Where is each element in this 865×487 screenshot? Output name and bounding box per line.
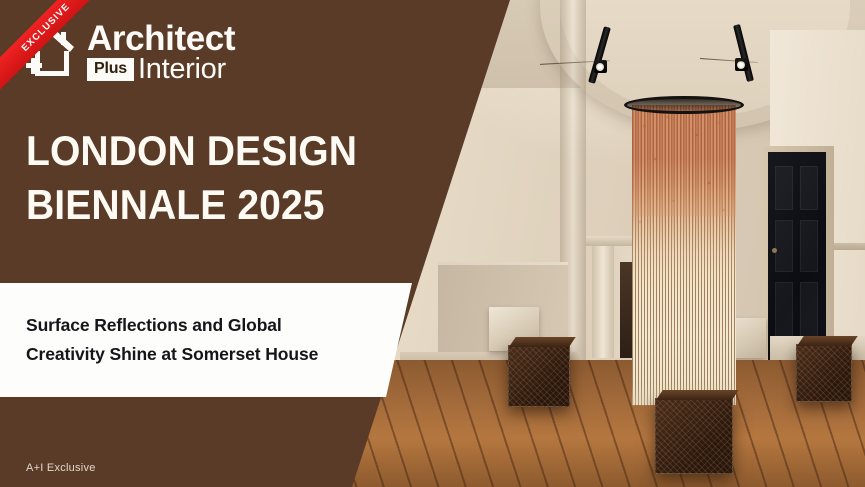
track-light-lens <box>596 63 604 71</box>
dark-panelled-door <box>768 152 826 360</box>
carved-wooden-cube <box>655 398 733 474</box>
cube-top-face <box>656 390 739 400</box>
door-panel <box>775 282 793 344</box>
fireplace-column-left <box>592 246 614 358</box>
subtitle-panel: Surface Reflections and Global Creativit… <box>0 283 412 397</box>
door-panel <box>775 166 793 210</box>
footer-tag: A+I Exclusive <box>26 462 96 474</box>
beaded-cylinder-installation <box>632 96 736 410</box>
door-panel <box>800 282 818 344</box>
cube-top-face <box>797 336 858 346</box>
carved-wooden-cube <box>796 344 852 402</box>
exclusive-ribbon: EXCLUSIVE <box>0 0 112 112</box>
ribbon-band: EXCLUSIVE <box>0 0 112 96</box>
installation-copper-beads <box>632 105 736 255</box>
door-panel <box>800 220 818 272</box>
subtitle-line-1: Surface Reflections and Global <box>26 311 350 340</box>
carved-wooden-cube <box>508 345 570 407</box>
suspension-ring <box>624 96 744 114</box>
headline-line-2: BIENNALE 2025 <box>26 178 379 232</box>
cube-top-face <box>509 337 576 347</box>
headline: LONDON DESIGN BIENNALE 2025 <box>26 124 406 232</box>
door-panel <box>800 166 818 210</box>
headline-line-1: LONDON DESIGN <box>26 124 379 178</box>
track-light-lens <box>737 61 745 69</box>
exclusive-feature-card: Architect Plus Interior EXCLUSIVE LONDON… <box>0 0 865 487</box>
brand-name-interior: Interior <box>138 55 226 84</box>
subtitle-line-2: Creativity Shine at Somerset House <box>26 340 350 369</box>
door-knob <box>772 248 777 253</box>
door-panel <box>775 220 793 272</box>
ribbon-label: EXCLUSIVE <box>20 1 73 54</box>
